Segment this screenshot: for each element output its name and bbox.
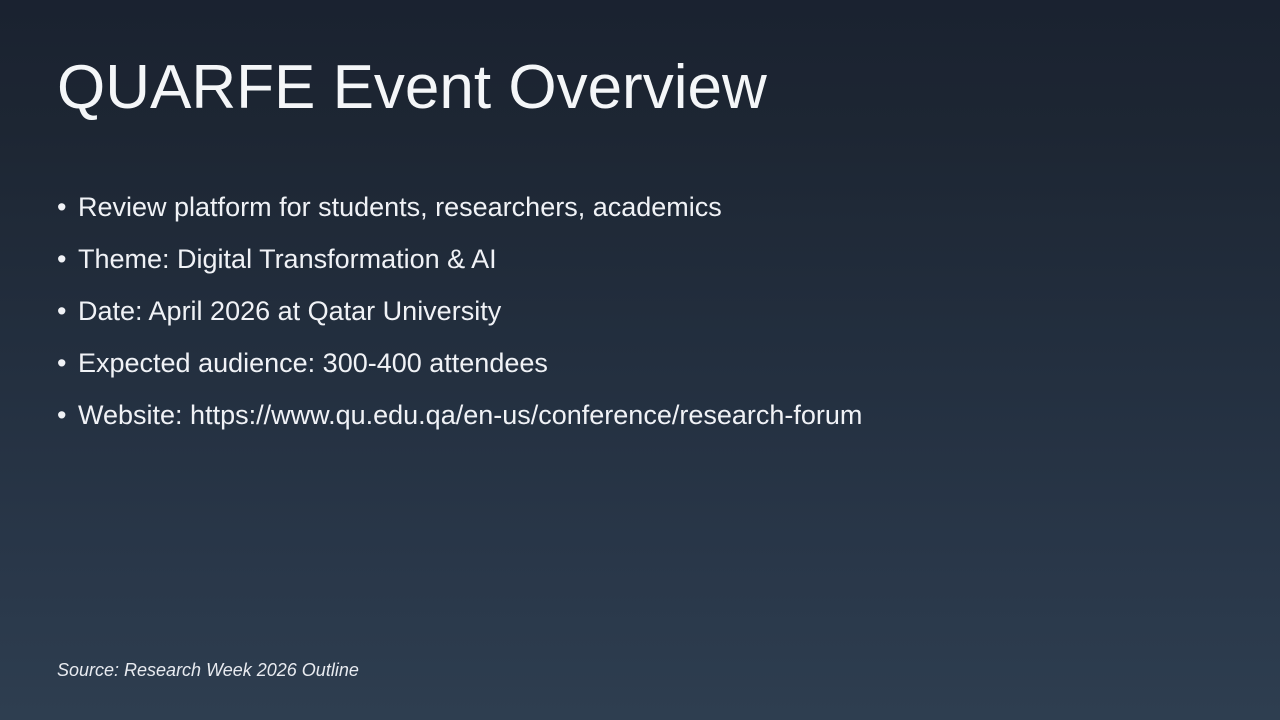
bullet-point-icon: • bbox=[57, 396, 78, 434]
list-item-label: Theme: Digital Transformation & AI bbox=[78, 240, 1227, 278]
bullet-point-icon: • bbox=[57, 240, 78, 278]
bullet-point-icon: • bbox=[57, 344, 78, 382]
page-title: QUARFE Event Overview bbox=[57, 57, 1217, 119]
list-item: • Review platform for students, research… bbox=[57, 188, 1227, 240]
presentation-slide: QUARFE Event Overview • Review platform … bbox=[0, 0, 1280, 720]
source-note: Source: Research Week 2026 Outline bbox=[57, 657, 359, 683]
list-item-label-website: Website: https://www.qu.edu.qa/en-us/con… bbox=[78, 396, 1227, 434]
bullet-list: • Review platform for students, research… bbox=[57, 188, 1227, 448]
list-item-label: Review platform for students, researcher… bbox=[78, 188, 1227, 226]
bullet-point-icon: • bbox=[57, 188, 78, 226]
list-item-label: Expected audience: 300-400 attendees bbox=[78, 344, 1227, 382]
list-item: • Date: April 2026 at Qatar University bbox=[57, 292, 1227, 344]
bullet-point-icon: • bbox=[57, 292, 78, 330]
list-item-label: Date: April 2026 at Qatar University bbox=[78, 292, 1227, 330]
list-item: • Theme: Digital Transformation & AI bbox=[57, 240, 1227, 292]
list-item: • Website: https://www.qu.edu.qa/en-us/c… bbox=[57, 396, 1227, 448]
list-item: • Expected audience: 300-400 attendees bbox=[57, 344, 1227, 396]
